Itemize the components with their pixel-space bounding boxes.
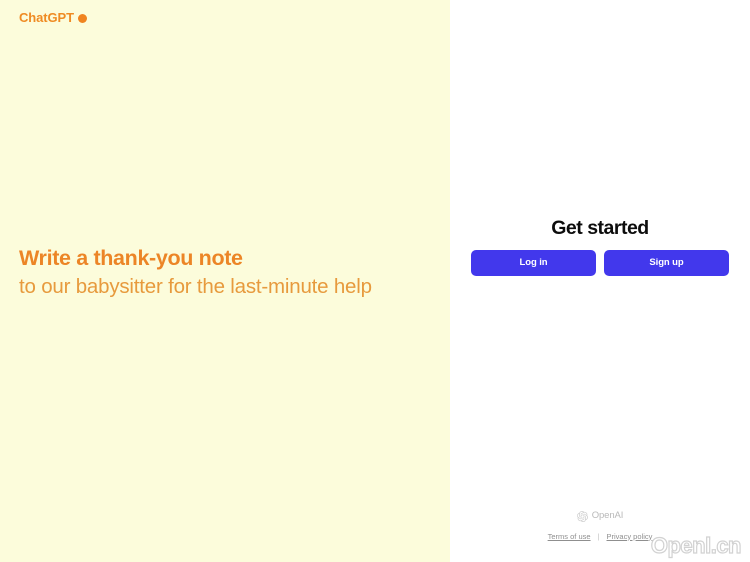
privacy-policy-link[interactable]: Privacy policy bbox=[607, 533, 653, 541]
signup-button[interactable]: Sign up bbox=[604, 250, 729, 276]
right-auth-panel: Get started Log in Sign up OpenAI Terms … bbox=[450, 0, 750, 562]
login-button[interactable]: Log in bbox=[471, 250, 596, 276]
headline-light-line: to our babysitter for the last-minute he… bbox=[19, 273, 409, 301]
get-started-title: Get started bbox=[551, 216, 648, 240]
promo-headline: Write a thank-you note to our babysitter… bbox=[19, 243, 419, 301]
legal-links: Terms of use | Privacy policy bbox=[548, 533, 653, 541]
auth-buttons-row: Log in Sign up bbox=[471, 250, 729, 276]
terms-of-use-link[interactable]: Terms of use bbox=[548, 533, 591, 541]
brand-name-label: ChatGPT bbox=[19, 11, 74, 24]
openai-branding: OpenAI bbox=[577, 511, 624, 522]
openai-logo-icon bbox=[577, 511, 588, 522]
chatgpt-brand-logo[interactable]: ChatGPT bbox=[19, 11, 87, 24]
chatgpt-landing-page: ChatGPT Write a thank-you note to our ba… bbox=[0, 0, 750, 562]
auth-block: Get started Log in Sign up bbox=[450, 216, 750, 276]
headline-bold-line: Write a thank-you note bbox=[19, 243, 419, 273]
openai-label: OpenAI bbox=[592, 511, 624, 521]
filled-circle-icon bbox=[78, 14, 87, 23]
legal-separator: | bbox=[598, 533, 600, 541]
left-promo-panel: ChatGPT Write a thank-you note to our ba… bbox=[0, 0, 450, 562]
page-footer: OpenAI Terms of use | Privacy policy bbox=[450, 511, 750, 541]
